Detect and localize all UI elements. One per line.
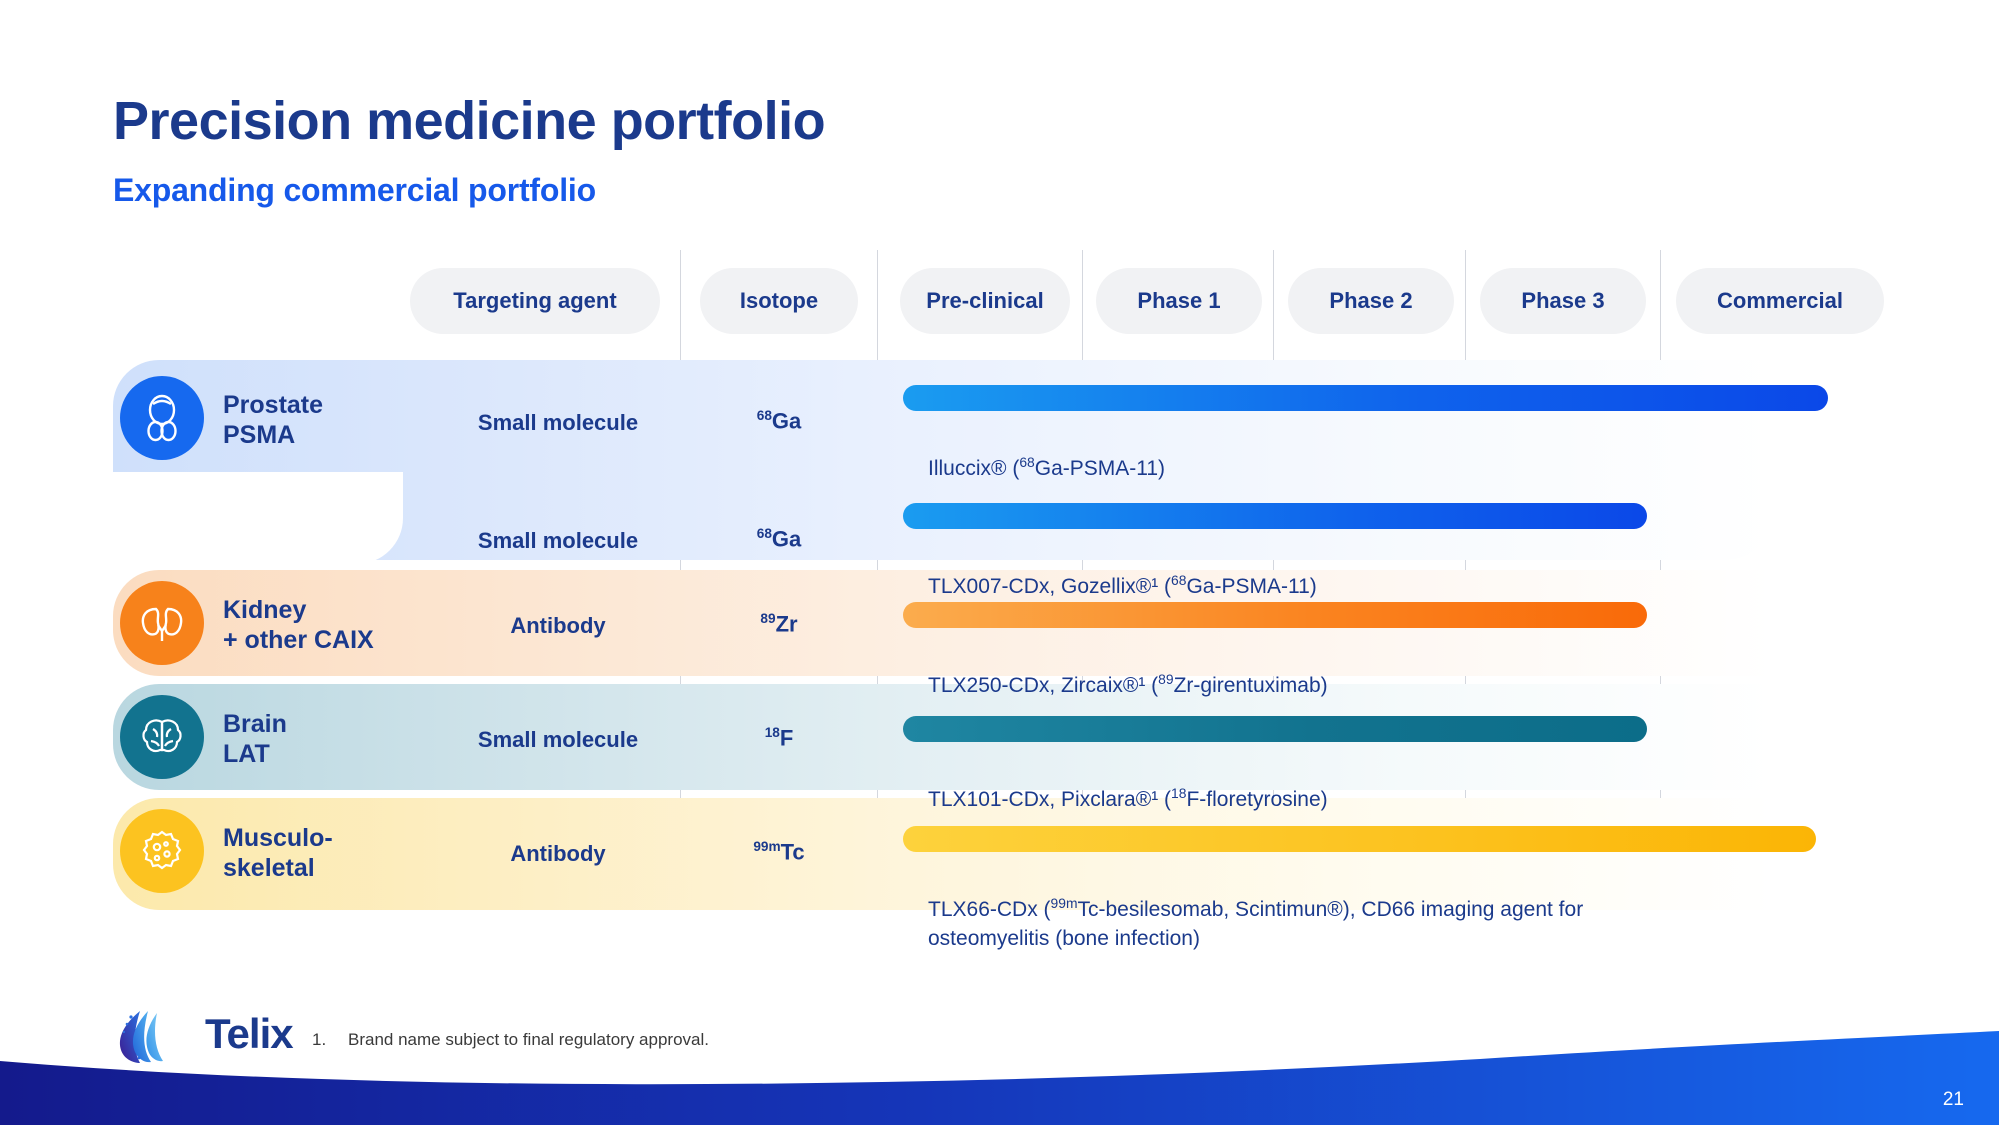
- bar-kidney-zircaix: [903, 602, 1647, 628]
- page-title: Precision medicine portfolio: [113, 90, 825, 152]
- cell-icon: [120, 809, 204, 893]
- page-number: 21: [1943, 1089, 1964, 1111]
- isotope-mass: 68: [757, 526, 772, 541]
- cell-isotope-brain: 18F: [765, 725, 794, 751]
- bar-prostate-gozellix: [903, 503, 1647, 529]
- cell-isotope-prostate-2: 68Ga: [757, 526, 802, 552]
- caption-sup: 68: [1171, 572, 1186, 588]
- column-header-label: Phase 2: [1329, 288, 1412, 314]
- column-header-phase-2[interactable]: Phase 2: [1288, 268, 1454, 334]
- row-label-line1: Kidney: [223, 595, 374, 625]
- caption-sup: 89: [1158, 671, 1173, 687]
- row-label-line2: LAT: [223, 739, 287, 769]
- caption-post: Ga-PSMA-11): [1186, 575, 1316, 598]
- column-header-label: Pre-clinical: [926, 288, 1043, 314]
- agent-label: Small molecule: [478, 727, 638, 752]
- cell-agent-msk: Antibody: [510, 841, 605, 867]
- column-header-label: Isotope: [740, 288, 818, 314]
- bar-msk-tlx66: [903, 826, 1816, 852]
- isotope-symbol: F: [780, 725, 793, 750]
- isotope-mass: 99m: [753, 839, 780, 854]
- row-label-line1: Prostate: [223, 390, 323, 420]
- column-header-label: Phase 3: [1521, 288, 1604, 314]
- column-header-pre-clinical[interactable]: Pre-clinical: [900, 268, 1070, 334]
- brain-icon: [120, 695, 204, 779]
- row-label-msk: Musculo- skeletal: [223, 823, 333, 883]
- isotope-symbol: Ga: [772, 408, 801, 433]
- bar-caption-prostate-gozellix: TLX007-CDx, Gozellix®¹ (68Ga-PSMA-11): [928, 543, 1317, 602]
- bar-prostate-illuccix: [903, 385, 1828, 411]
- row-label-line2: PSMA: [223, 420, 323, 450]
- caption-sup: 18: [1171, 785, 1186, 801]
- isotope-mass: 18: [765, 725, 780, 740]
- caption-pre: TLX250-CDx, Zircaix®¹ (: [928, 674, 1158, 697]
- column-header-phase-1[interactable]: Phase 1: [1096, 268, 1262, 334]
- bar-caption-kidney-zircaix: TLX250-CDx, Zircaix®¹ (89Zr-girentuximab…: [928, 642, 1328, 701]
- portfolio-chart: Targeting agent Isotope Pre-clinical Pha…: [0, 250, 1999, 930]
- bar-brain-pixclara: [903, 716, 1647, 742]
- row-label-line2: + other CAIX: [223, 625, 374, 655]
- prostate-icon: [120, 376, 204, 460]
- cell-agent-prostate-2: Small molecule: [478, 528, 638, 554]
- row-label-kidney: Kidney + other CAIX: [223, 595, 374, 655]
- column-header-isotope[interactable]: Isotope: [700, 268, 858, 334]
- cell-agent-kidney: Antibody: [510, 613, 605, 639]
- bar-caption-msk-tlx66: TLX66-CDx (99mTc-besilesomab, Scintimun®…: [928, 866, 1648, 953]
- row-label-line1: Musculo-: [223, 823, 333, 853]
- isotope-mass: 89: [760, 611, 775, 626]
- slide: Precision medicine portfolio Expanding c…: [0, 0, 1999, 1125]
- column-header-phase-3[interactable]: Phase 3: [1480, 268, 1646, 334]
- column-header-label: Targeting agent: [453, 288, 616, 314]
- caption-pre: TLX007-CDx, Gozellix®¹ (: [928, 575, 1171, 598]
- isotope-symbol: Zr: [776, 611, 798, 636]
- column-header-label: Commercial: [1717, 288, 1843, 314]
- cell-isotope-kidney: 89Zr: [760, 611, 797, 637]
- agent-label: Small molecule: [478, 528, 638, 553]
- kidney-icon: [120, 581, 204, 665]
- caption-post: Zr-girentuximab): [1174, 674, 1328, 697]
- caption-post: Ga-PSMA-11): [1035, 457, 1165, 480]
- isotope-symbol: Tc: [781, 839, 805, 864]
- isotope-mass: 68: [757, 408, 772, 423]
- cell-agent-prostate-1: Small molecule: [478, 410, 638, 436]
- agent-label: Antibody: [510, 613, 605, 638]
- page-subtitle: Expanding commercial portfolio: [113, 172, 596, 209]
- row-label-line2: skeletal: [223, 853, 333, 883]
- caption-pre: Illuccix® (: [928, 457, 1019, 480]
- caption-sup: 99m: [1051, 895, 1078, 911]
- caption-post: F-floretyrosine): [1186, 788, 1327, 811]
- row-band-notch: [113, 472, 403, 564]
- row-label-prostate: Prostate PSMA: [223, 390, 323, 450]
- row-label-brain: Brain LAT: [223, 709, 287, 769]
- cell-isotope-msk: 99mTc: [753, 839, 804, 865]
- column-header-commercial[interactable]: Commercial: [1676, 268, 1884, 334]
- bar-caption-prostate-illuccix: Illuccix® (68Ga-PSMA-11): [928, 425, 1165, 484]
- agent-label: Small molecule: [478, 410, 638, 435]
- caption-pre: TLX66-CDx (: [928, 898, 1051, 921]
- bar-caption-brain-pixclara: TLX101-CDx, Pixclara®¹ (18F-floretyrosin…: [928, 756, 1328, 815]
- agent-label: Antibody: [510, 841, 605, 866]
- isotope-symbol: Ga: [772, 526, 801, 551]
- caption-pre: TLX101-CDx, Pixclara®¹ (: [928, 788, 1171, 811]
- cell-agent-brain: Small molecule: [478, 727, 638, 753]
- caption-sup: 68: [1019, 454, 1034, 470]
- cell-isotope-prostate-1: 68Ga: [757, 408, 802, 434]
- column-header-label: Phase 1: [1137, 288, 1220, 314]
- footer-wave: [0, 1025, 1999, 1125]
- column-header-targeting-agent[interactable]: Targeting agent: [410, 268, 660, 334]
- row-label-line1: Brain: [223, 709, 287, 739]
